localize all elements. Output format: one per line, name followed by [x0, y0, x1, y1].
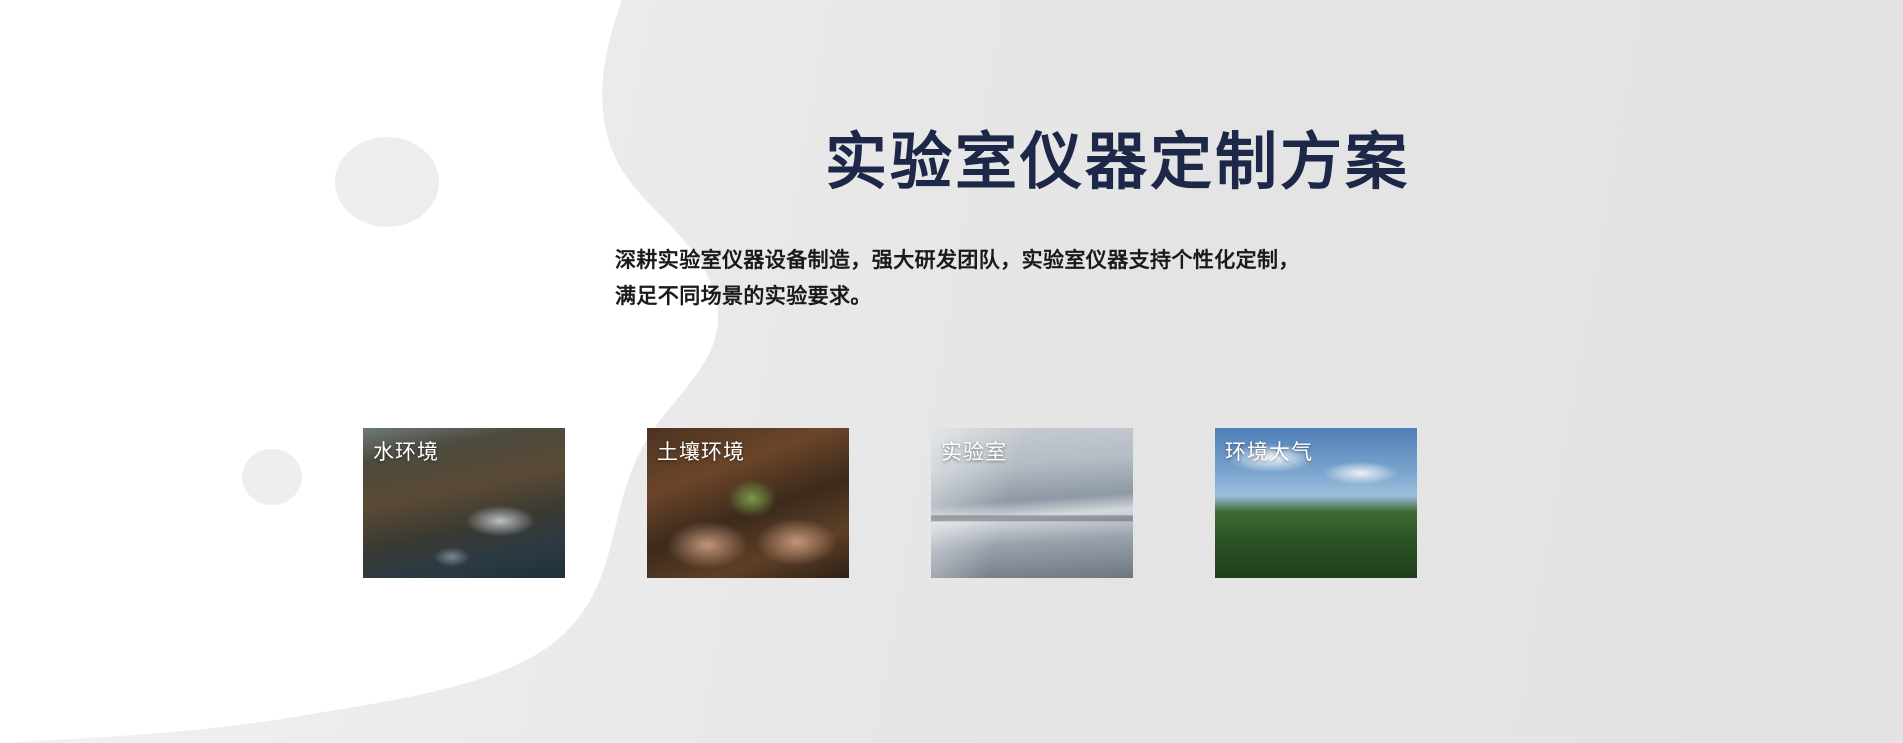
scene-card-label: 环境大气	[1225, 436, 1313, 466]
subtitle-block: 深耕实验室仪器设备制造，强大研发团队，实验室仪器支持个性化定制， 满足不同场景的…	[615, 243, 1415, 315]
scene-card-water[interactable]: 水环境	[363, 428, 565, 578]
scene-card-label: 实验室	[941, 436, 1007, 466]
subtitle-line-2: 满足不同场景的实验要求。	[615, 279, 1415, 315]
page-title: 实验室仪器定制方案	[0, 128, 1410, 197]
headline-block: 实验室仪器定制方案	[0, 128, 1410, 197]
scene-card-label: 水环境	[373, 436, 439, 466]
scene-card-label: 土壤环境	[657, 436, 745, 466]
decorative-swoosh	[0, 0, 1903, 743]
scene-card-atmosphere[interactable]: 环境大气	[1215, 428, 1417, 578]
scene-card-soil[interactable]: 土壤环境	[647, 428, 849, 578]
hero-banner: 实验室仪器定制方案 深耕实验室仪器设备制造，强大研发团队，实验室仪器支持个性化定…	[0, 0, 1903, 743]
scene-card-strip: 水环境 土壤环境 实验室 环境大气	[363, 428, 1411, 578]
scene-card-laboratory[interactable]: 实验室	[931, 428, 1133, 578]
subtitle-line-1: 深耕实验室仪器设备制造，强大研发团队，实验室仪器支持个性化定制，	[615, 243, 1415, 279]
